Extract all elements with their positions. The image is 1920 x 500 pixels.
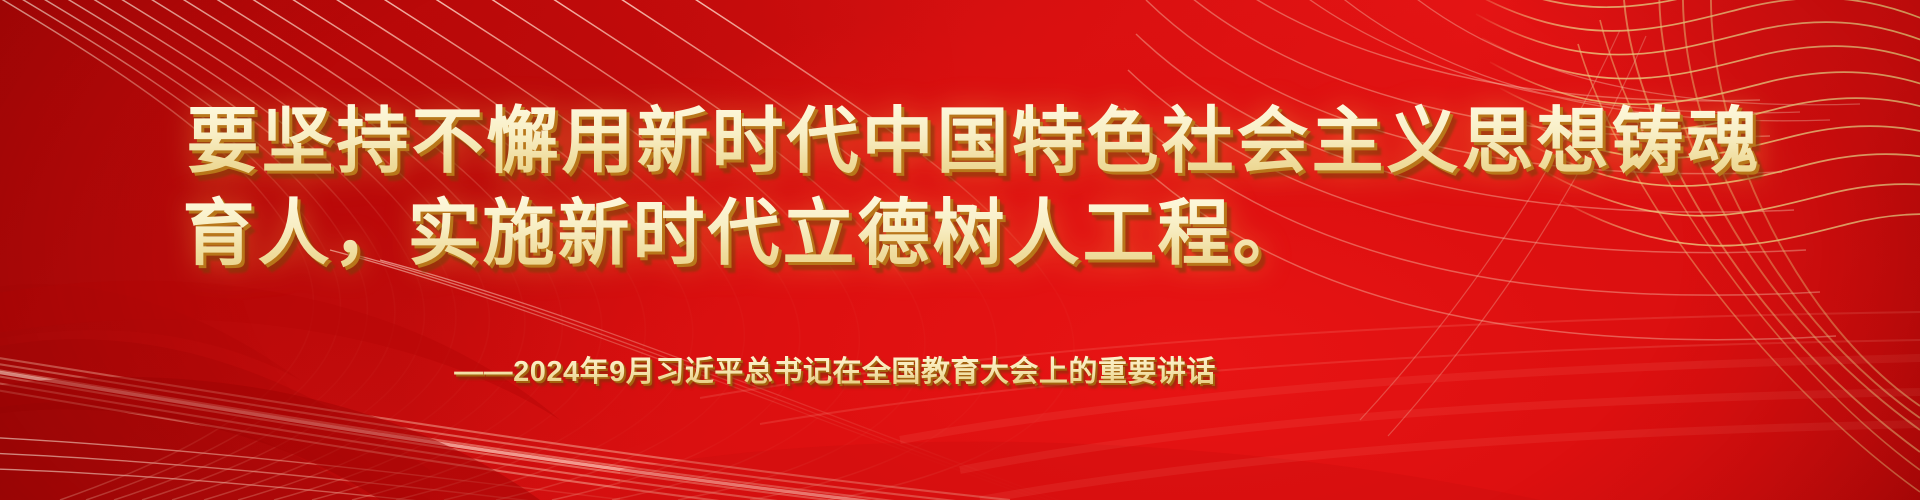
red-banner: 要坚持不懈用新时代中国特色社会主义思想铸魂 育人，实施新时代立德树人工程。 ——… bbox=[0, 0, 1920, 500]
attribution-block: ——2024年9月习近平总书记在全国教育大会上的重要讲话 bbox=[0, 352, 1920, 392]
banner-content: 要坚持不懈用新时代中国特色社会主义思想铸魂 育人，实施新时代立德树人工程。 ——… bbox=[0, 0, 1920, 500]
attribution-text: ——2024年9月习近平总书记在全国教育大会上的重要讲话 bbox=[454, 352, 1216, 392]
headline-line-1: 要坚持不懈用新时代中国特色社会主义思想铸魂 bbox=[0, 96, 1920, 188]
headline-line-2: 育人，实施新时代立德树人工程。 bbox=[0, 188, 1920, 280]
headline-block: 要坚持不懈用新时代中国特色社会主义思想铸魂 育人，实施新时代立德树人工程。 bbox=[0, 96, 1920, 280]
